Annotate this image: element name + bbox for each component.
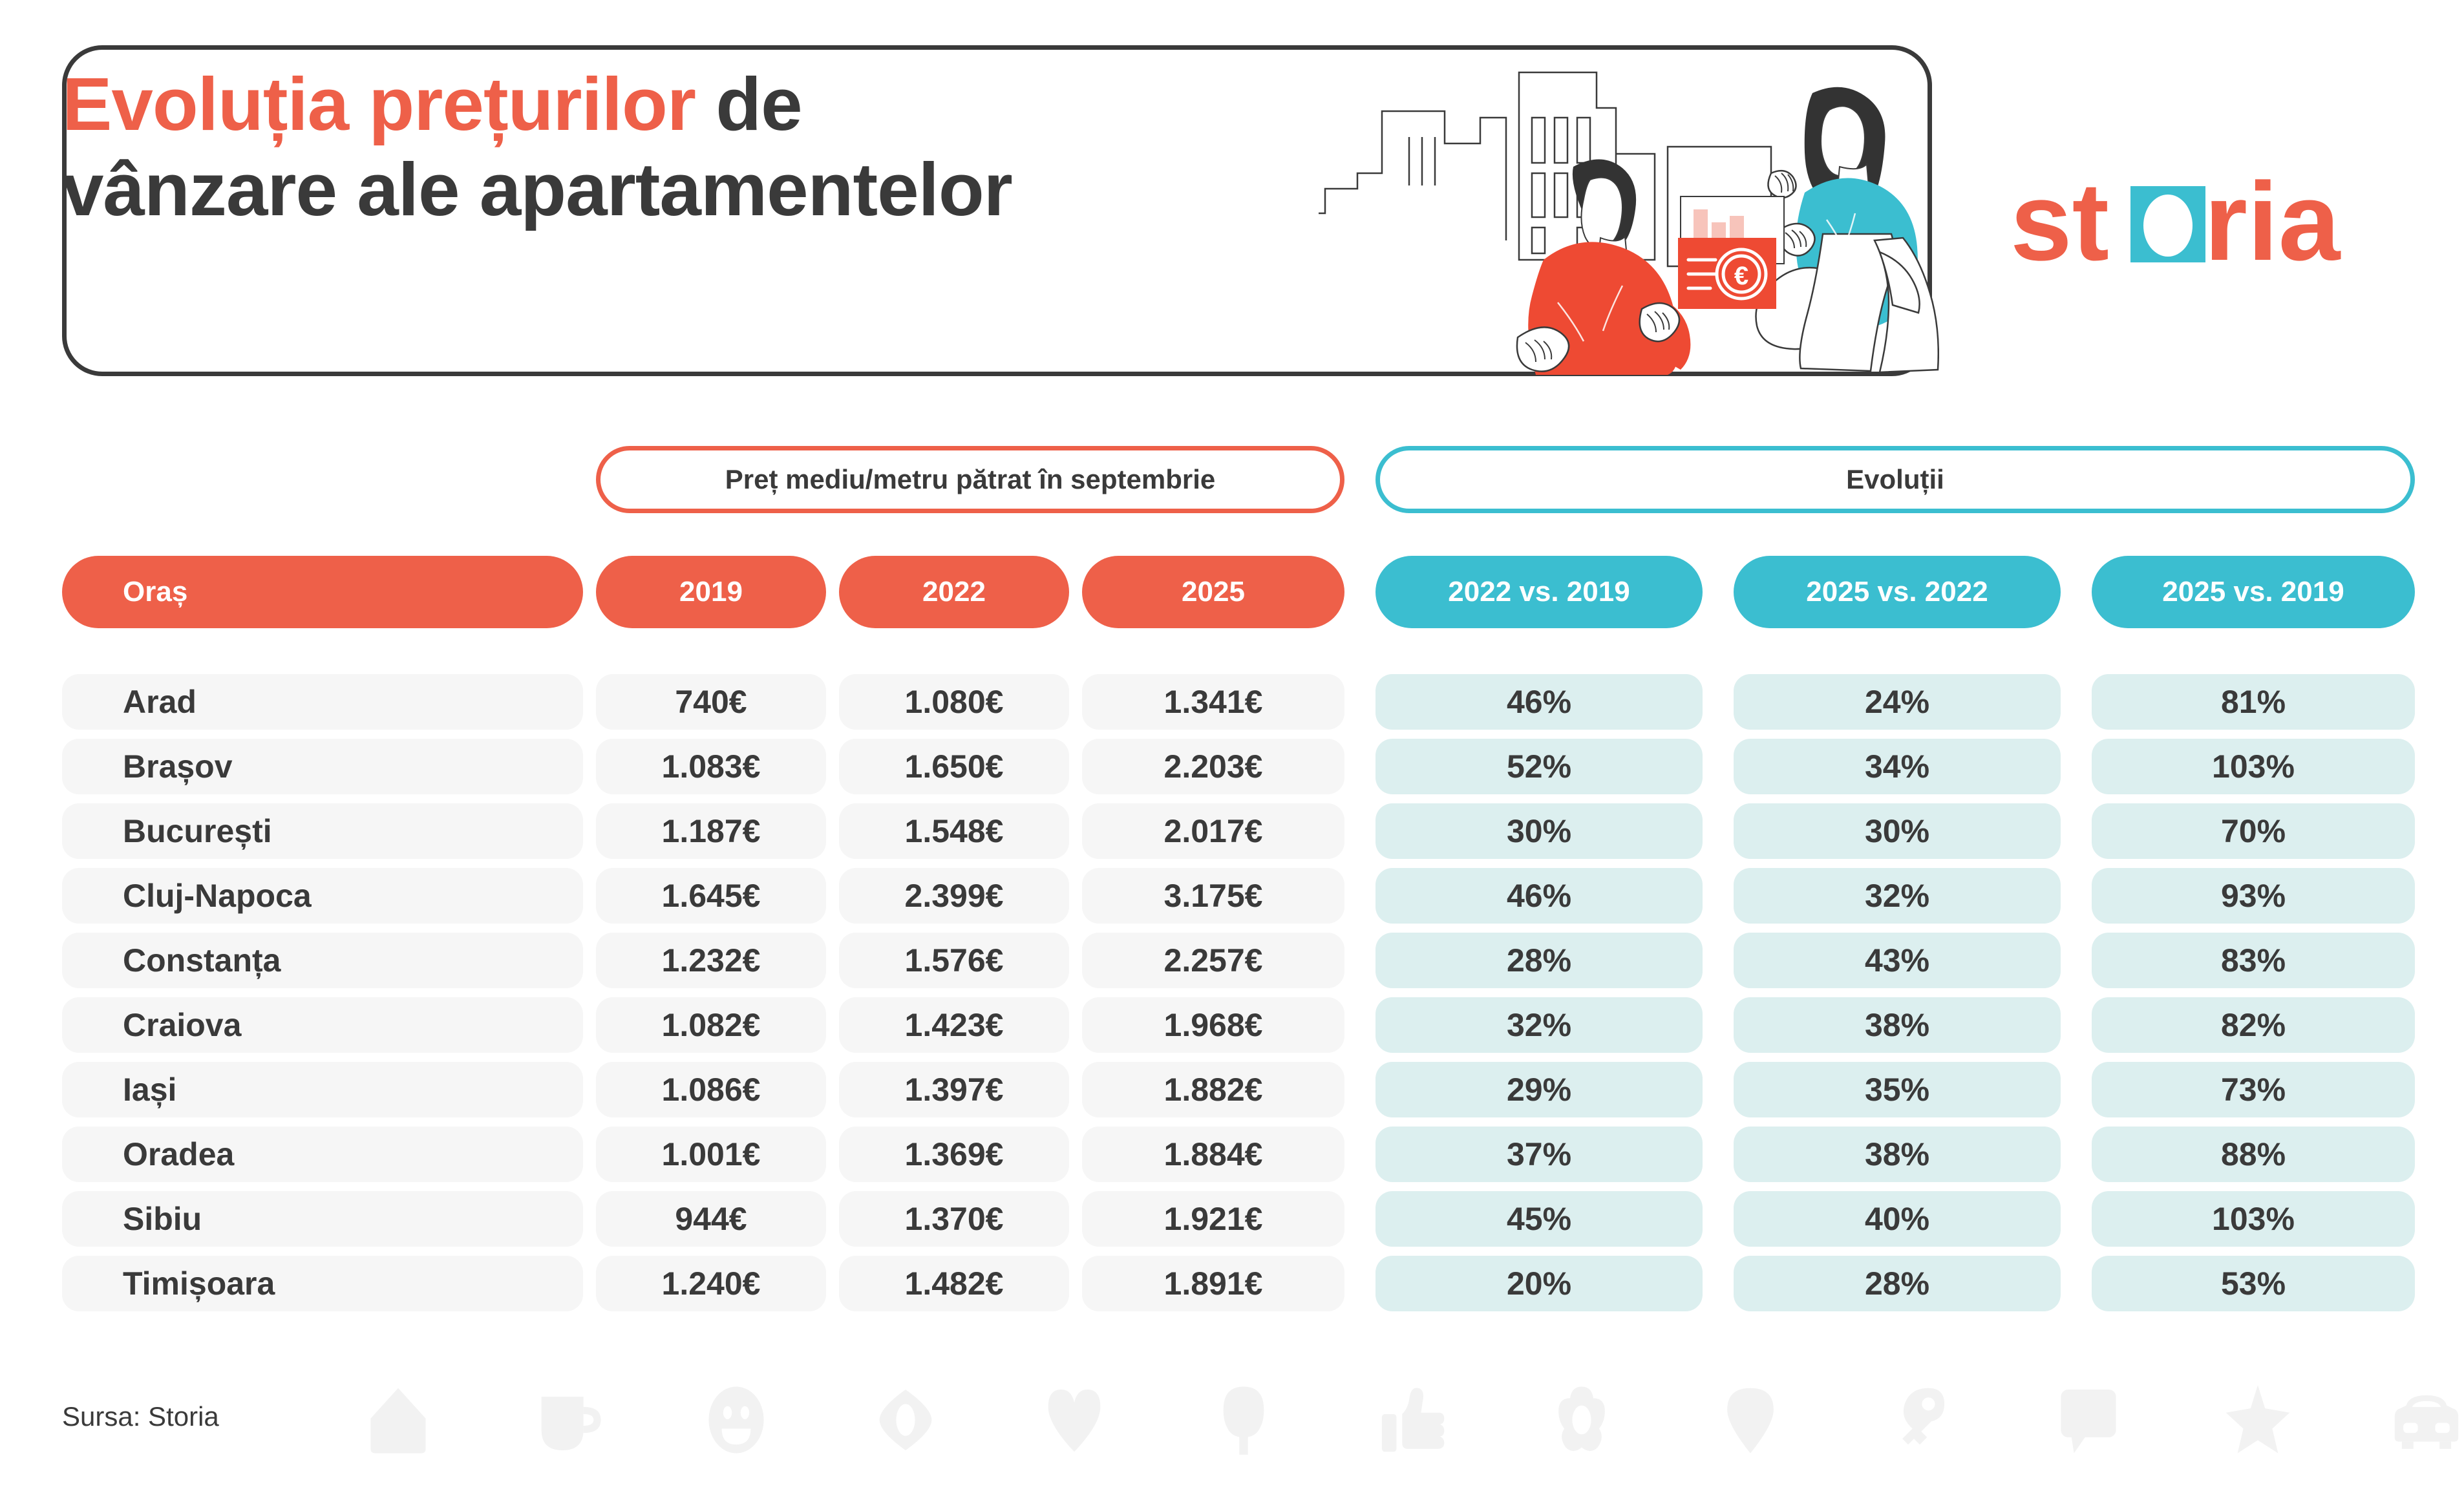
column-header-2022-vs-2019-label: 2022 vs. 2019 [1448, 576, 1630, 608]
table-row: Arad740€1.080€1.341€46%24%81% [0, 674, 2464, 730]
cell-evo-2025-vs-2019: 93% [2092, 868, 2415, 924]
decorative-icon-strip [362, 1378, 2463, 1462]
cell-evo-2025-vs-2019: 70% [2092, 803, 2415, 859]
cell-price-2025: 1.968€ [1082, 997, 1344, 1053]
section-header-price: Preț mediu/metru pătrat în septembrie [596, 446, 1344, 513]
cell-evo-2022-vs-2019: 37% [1375, 1126, 1703, 1182]
cell-evo-2025-vs-2022: 30% [1734, 803, 2061, 859]
cell-city: Timișoara [62, 1256, 583, 1311]
cell-price-2019: 740€ [596, 674, 826, 730]
cell-evo-2025-vs-2022: 40% [1734, 1191, 2061, 1247]
column-header-city: Oraș [62, 556, 583, 628]
cell-city: Iași [62, 1062, 583, 1117]
cell-price-2022: 2.399€ [839, 868, 1069, 924]
cell-evo-2022-vs-2019: 20% [1375, 1256, 1703, 1311]
cell-price-2019: 1.187€ [596, 803, 826, 859]
logo-o-counter [2143, 195, 2193, 257]
location-pin-icon [1714, 1384, 1787, 1456]
cell-price-2025: 1.921€ [1082, 1191, 1344, 1247]
mug-icon [531, 1384, 604, 1456]
speech-bubble-icon [2052, 1384, 2125, 1456]
cell-evo-2025-vs-2022: 38% [1734, 997, 2061, 1053]
title-rest-text: de [696, 62, 802, 146]
cell-evo-2022-vs-2019: 46% [1375, 674, 1703, 730]
cell-evo-2022-vs-2019: 29% [1375, 1062, 1703, 1117]
cell-city: Constanța [62, 933, 583, 988]
key-icon [1884, 1384, 1956, 1456]
cell-price-2019: 1.001€ [596, 1126, 826, 1182]
table-row: Iași1.086€1.397€1.882€29%35%73% [0, 1062, 2464, 1117]
cell-price-2019: 1.232€ [596, 933, 826, 988]
cell-price-2025: 2.203€ [1082, 739, 1344, 794]
cell-evo-2025-vs-2022: 34% [1734, 739, 2061, 794]
cell-price-2022: 1.369€ [839, 1126, 1069, 1182]
table-row: Craiova1.082€1.423€1.968€32%38%82% [0, 997, 2464, 1053]
cell-evo-2025-vs-2022: 24% [1734, 674, 2061, 730]
cell-price-2022: 1.482€ [839, 1256, 1069, 1311]
cell-price-2019: 944€ [596, 1191, 826, 1247]
cell-price-2025: 1.882€ [1082, 1062, 1344, 1117]
cell-price-2022: 1.080€ [839, 674, 1069, 730]
cell-price-2019: 1.645€ [596, 868, 826, 924]
column-header-2025-vs-2019: 2025 vs. 2019 [2092, 556, 2415, 628]
thumbs-up-icon [1376, 1384, 1449, 1456]
cell-evo-2025-vs-2019: 103% [2092, 1191, 2415, 1247]
cell-city: Sibiu [62, 1191, 583, 1247]
storia-logo: st ria [2010, 162, 2411, 271]
cell-evo-2022-vs-2019: 52% [1375, 739, 1703, 794]
cell-evo-2025-vs-2019: 103% [2092, 739, 2415, 794]
cell-evo-2022-vs-2019: 45% [1375, 1191, 1703, 1247]
page-title: Evoluția prețurilor de vânzare ale apart… [62, 61, 1290, 232]
column-header-2022: 2022 [839, 556, 1069, 628]
cell-price-2025: 2.017€ [1082, 803, 1344, 859]
cell-price-2022: 1.576€ [839, 933, 1069, 988]
cell-evo-2025-vs-2022: 43% [1734, 933, 2061, 988]
column-header-2025: 2025 [1082, 556, 1344, 628]
cell-evo-2022-vs-2019: 32% [1375, 997, 1703, 1053]
smiley-icon [700, 1384, 772, 1456]
column-header-city-label: Oraș [123, 576, 187, 608]
cell-city: Cluj-Napoca [62, 868, 583, 924]
column-header-2022-vs-2019: 2022 vs. 2019 [1375, 556, 1703, 628]
source-label: Sursa: Storia [62, 1401, 219, 1432]
infographic-page: Evoluția prețurilor de vânzare ale apart… [0, 0, 2464, 1502]
cell-evo-2025-vs-2019: 83% [2092, 933, 2415, 988]
house-icon [362, 1384, 434, 1456]
cell-price-2022: 1.423€ [839, 997, 1069, 1053]
cell-evo-2025-vs-2019: 82% [2092, 997, 2415, 1053]
cell-evo-2025-vs-2019: 88% [2092, 1126, 2415, 1182]
cell-price-2019: 1.082€ [596, 997, 826, 1053]
eye-icon [869, 1384, 942, 1456]
title-line-2: vânzare ale apartamentelor [62, 147, 1290, 232]
cell-price-2022: 1.397€ [839, 1062, 1069, 1117]
table-row: Oradea1.001€1.369€1.884€37%38%88% [0, 1126, 2464, 1182]
cell-evo-2025-vs-2022: 35% [1734, 1062, 2061, 1117]
cell-evo-2025-vs-2019: 53% [2092, 1256, 2415, 1311]
heart-icon [1038, 1384, 1110, 1456]
logo-text-ria: ria [2204, 162, 2341, 271]
cell-evo-2025-vs-2019: 81% [2092, 674, 2415, 730]
title-line-1: Evoluția prețurilor de [62, 61, 1290, 147]
table-row: Cluj-Napoca1.645€2.399€3.175€46%32%93% [0, 868, 2464, 924]
cell-price-2022: 1.548€ [839, 803, 1069, 859]
cell-city: Arad [62, 674, 583, 730]
cell-evo-2025-vs-2022: 32% [1734, 868, 2061, 924]
table-row: Sibiu944€1.370€1.921€45%40%103% [0, 1191, 2464, 1247]
cell-price-2025: 2.257€ [1082, 933, 1344, 988]
column-header-2022-label: 2022 [922, 576, 986, 608]
cell-price-2022: 1.650€ [839, 739, 1069, 794]
cell-city: Brașov [62, 739, 583, 794]
column-header-2025-vs-2022-label: 2025 vs. 2022 [1806, 576, 1988, 608]
cell-city: Oradea [62, 1126, 583, 1182]
table-row: Constanța1.232€1.576€2.257€28%43%83% [0, 933, 2464, 988]
column-header-2019: 2019 [596, 556, 826, 628]
column-header-2025-vs-2022: 2025 vs. 2022 [1734, 556, 2061, 628]
car-icon [2390, 1384, 2463, 1456]
section-header-evolution: Evoluții [1375, 446, 2415, 513]
cell-evo-2025-vs-2022: 28% [1734, 1256, 2061, 1311]
logo-text-st: st [2010, 162, 2109, 271]
table-row: București1.187€1.548€2.017€30%30%70% [0, 803, 2464, 859]
title-accent-text: Evoluția prețurilor [62, 62, 696, 146]
star-icon [2222, 1384, 2294, 1456]
cell-price-2025: 1.341€ [1082, 674, 1344, 730]
section-header-price-label: Preț mediu/metru pătrat în septembrie [725, 464, 1216, 495]
cell-city: Craiova [62, 997, 583, 1053]
cell-price-2019: 1.240€ [596, 1256, 826, 1311]
people-illustration: € [1319, 47, 1939, 375]
column-header-2025-vs-2019-label: 2025 vs. 2019 [2162, 576, 2344, 608]
section-header-evolution-label: Evoluții [1846, 464, 1944, 495]
cell-city: București [62, 803, 583, 859]
cell-price-2022: 1.370€ [839, 1191, 1069, 1247]
tree-icon [1207, 1384, 1280, 1456]
cell-evo-2025-vs-2022: 38% [1734, 1126, 2061, 1182]
cell-price-2025: 1.884€ [1082, 1126, 1344, 1182]
cell-price-2019: 1.086€ [596, 1062, 826, 1117]
flower-icon [1545, 1384, 1618, 1456]
cell-evo-2022-vs-2019: 46% [1375, 868, 1703, 924]
table-row: Timișoara1.240€1.482€1.891€20%28%53% [0, 1256, 2464, 1311]
column-header-2019-label: 2019 [679, 576, 743, 608]
cell-price-2019: 1.083€ [596, 739, 826, 794]
cell-evo-2025-vs-2019: 73% [2092, 1062, 2415, 1117]
table-row: Brașov1.083€1.650€2.203€52%34%103% [0, 739, 2464, 794]
cell-price-2025: 1.891€ [1082, 1256, 1344, 1311]
column-header-2025-label: 2025 [1182, 576, 1245, 608]
cell-price-2025: 3.175€ [1082, 868, 1344, 924]
cell-evo-2022-vs-2019: 30% [1375, 803, 1703, 859]
cell-evo-2022-vs-2019: 28% [1375, 933, 1703, 988]
svg-text:€: € [1734, 262, 1748, 290]
